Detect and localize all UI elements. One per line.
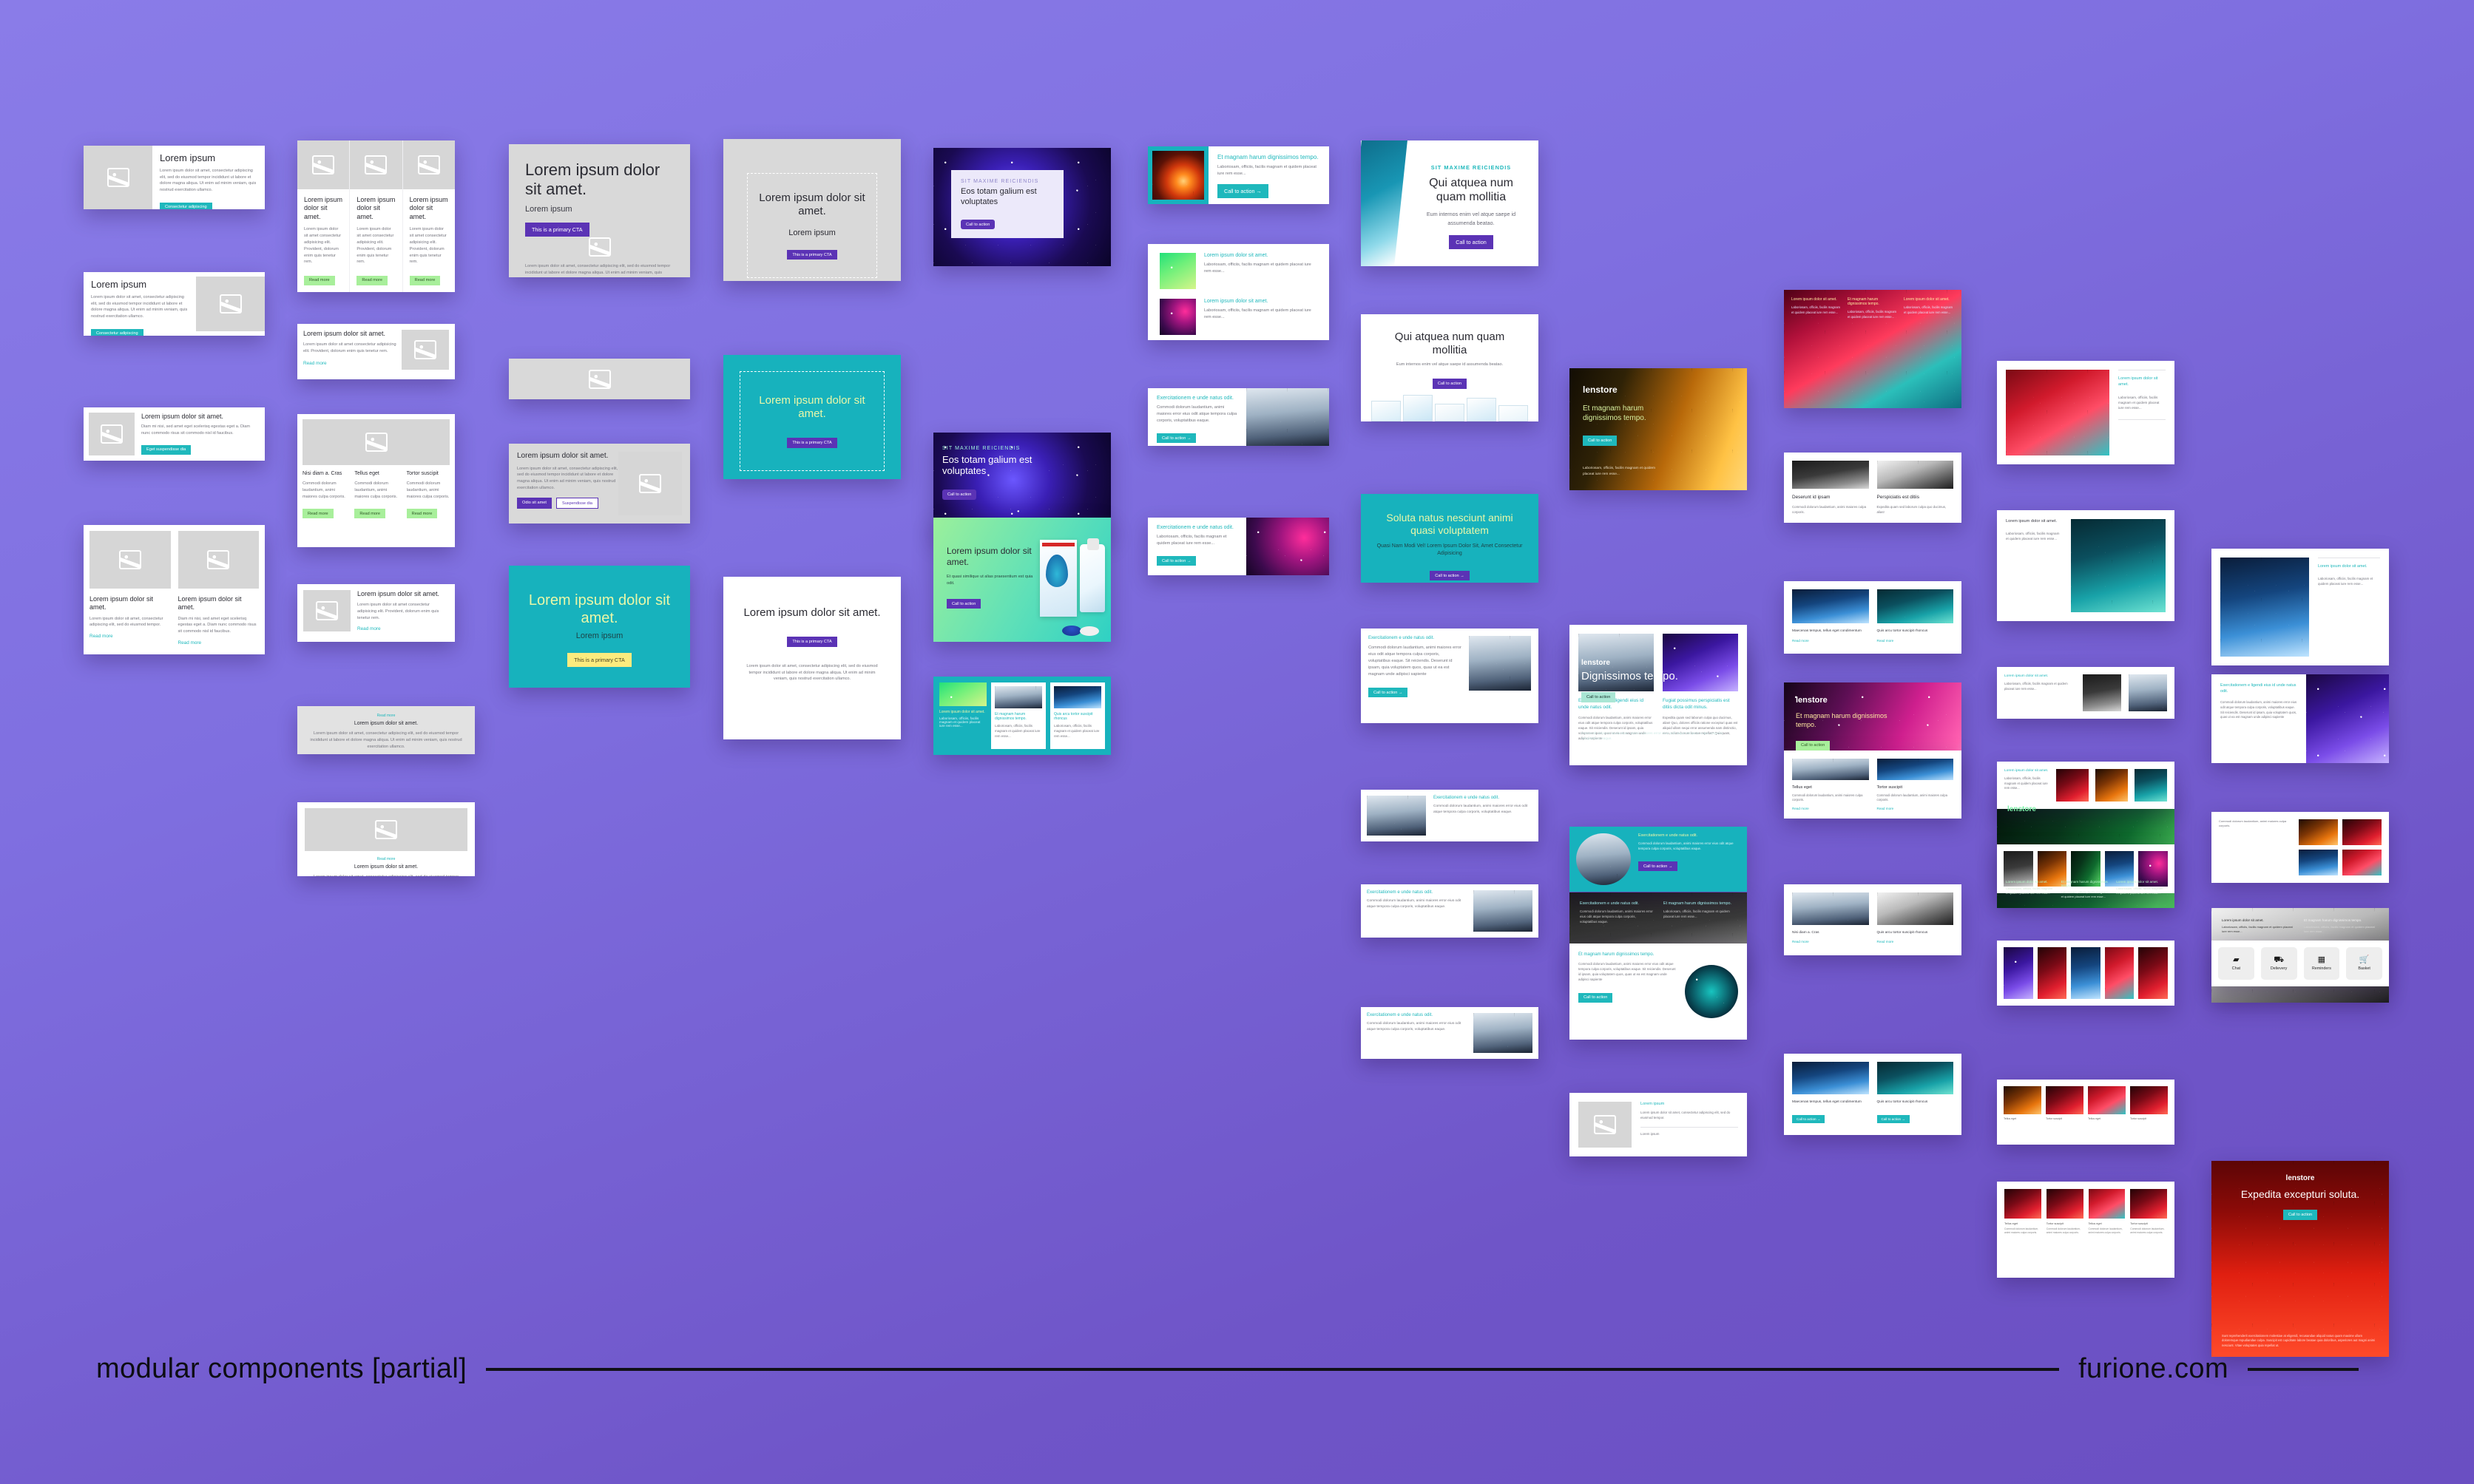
card-title: Nisi diam a. Cras: [1792, 930, 1869, 935]
card-caption: Lorem ipsum: [1640, 1131, 1738, 1136]
cta-button[interactable]: Call to action: [1583, 436, 1617, 445]
card-title: Quis arcu tortor suscipit rhoncus: [1877, 1100, 1954, 1105]
thumbnail-image: [1054, 686, 1101, 708]
read-more-link[interactable]: Read more: [89, 634, 169, 639]
card-title: Lorem ipsum dolor sit amet.: [304, 196, 342, 221]
card-title: Quis arcu tortor suscipit rhoncus: [1877, 930, 1954, 935]
thumb-caption: Tellus eget: [2004, 1117, 2041, 1120]
two-up-grey-card[interactable]: Deserunt id ipsam Commodi dolorum laudan…: [1784, 453, 1961, 523]
cta-button[interactable]: Call to action: [1796, 741, 1830, 751]
promo-text: Lorem ipsum dolor sit amet. Et quasi sim…: [947, 546, 1041, 609]
feature-card-compact[interactable]: Lorem ipsum dolor sit amet. Diam mi nisi…: [84, 407, 265, 461]
banner-body: Sunt reprehenderit exercitationem molest…: [2222, 1334, 2379, 1349]
col-body: Laboriosam, officiis, facilis magnam et …: [1904, 305, 1954, 315]
card-title: Lorem ipsum dolor sit amet.: [141, 413, 260, 421]
card-title: Maecenas tempus, tellus eget condimentum: [1792, 629, 1869, 634]
cta-button[interactable]: Call to action →: [1792, 1115, 1825, 1123]
cta-button[interactable]: Call to action: [2283, 1210, 2317, 1219]
overlay-panel: SIT MAXIME REICIENDIS Eos totam galium e…: [951, 170, 1064, 238]
cta-button[interactable]: Call to action →: [1157, 433, 1196, 443]
quote-block-card[interactable]: Read more Lorem ipsum dolor sit amet. Lo…: [297, 706, 475, 754]
placeholder-strip[interactable]: [509, 359, 690, 399]
card-body: Laboriosam, officiis, facilis magnam et …: [2118, 395, 2166, 411]
image-placeholder-icon: [403, 140, 455, 189]
col-title: Et magnam harum dignissimos tempo.: [2304, 918, 2379, 922]
card-body: Diam mi nisi, sed amet eget scelerisq eg…: [141, 424, 260, 437]
image-placeholder-icon: [305, 808, 467, 851]
split-media-text-card[interactable]: Lorem ipsum dolor sit amet. Lorem ipsum …: [509, 444, 690, 524]
thumbnail-image: [995, 686, 1042, 708]
thumb-body: Commodi dolorum laudantium, animi maiore…: [2130, 1227, 2167, 1235]
cta-button[interactable]: Call to action: [1449, 235, 1493, 249]
card-image: [1877, 461, 1954, 489]
read-more-link[interactable]: Read more: [357, 626, 449, 631]
col-title: Lorem ipsum dolor sit amet.: [2222, 918, 2296, 922]
thumbnail-image: [2046, 1086, 2083, 1114]
card-body: Lorem ipsum dolor sit amet consectetur a…: [356, 226, 395, 266]
card-body: Lorem ipsum dolor sit amet, consectetur …: [743, 663, 882, 683]
image-placeholder-icon: [89, 531, 171, 589]
image-placeholder-icon: [350, 140, 402, 189]
media-card-image-left[interactable]: Lorem ipsum Lorem ipsum dolor sit amet, …: [84, 146, 265, 209]
card-title: Lorem ipsum dolor sit amet.: [2004, 769, 2049, 773]
card-eyebrow: SIT MAXIME REICIENDIS: [942, 446, 1067, 451]
card-title: Qui atquea num quam mollitia: [1414, 176, 1528, 204]
col-body: Laboriosam, officiis, facilis magnam et …: [2116, 887, 2166, 895]
read-more-button[interactable]: Read more: [407, 509, 438, 518]
card-image: [1877, 1062, 1954, 1094]
teal-thumb-card[interactable]: Exercitationem e unde natus odit. Commod…: [1569, 827, 1747, 892]
card-body: Commodi dolorum laudantium, animi maiore…: [1792, 504, 1869, 515]
image-placeholder-icon: [402, 330, 449, 370]
dashed-container: Lorem ipsum dolor sit amet. This is a pr…: [740, 371, 885, 471]
two-column-article-card[interactable]: Lorem ipsum dolor sit amet. Lorem ipsum …: [84, 525, 265, 654]
banner-title: Expedita excepturi soluta.: [2211, 1188, 2389, 1200]
thumbnail-image: [2342, 850, 2382, 875]
card-title: Eos totam galium est voluptates: [961, 187, 1054, 208]
thumb-body: Commodi dolorum laudantium, animi maiore…: [2004, 1227, 2041, 1235]
product-promo-banner[interactable]: Lorem ipsum dolor sit amet. Et quasi sim…: [933, 518, 1111, 642]
col-body: Laboriosam, officiis, facilis magnam et …: [2006, 887, 2055, 895]
read-more-link[interactable]: Read more: [303, 361, 402, 366]
primary-cta-button[interactable]: This is a primary CTA: [787, 438, 837, 447]
media-card-image-right-small[interactable]: Lorem ipsum dolor sit amet. Lorem ipsum …: [297, 324, 455, 379]
col-title: Et magnam harum dignissimos tempo.: [1663, 901, 1737, 906]
card-image: [2220, 558, 2309, 657]
thumb-body: Laboriosam, officiis, facilis magnam et …: [939, 716, 987, 728]
card-body: Eum internos enim vel atque saepe id ass…: [1414, 210, 1528, 226]
card-body: Laboriosam, officiis, facilis magnam et …: [2004, 682, 2075, 691]
thumbnail-image: [1152, 151, 1204, 200]
list-item-title: Lorem ipsum dolor sit amet.: [1204, 253, 1317, 258]
card-body: Laboriosam, officiis, facilis magnam et …: [2006, 531, 2062, 542]
list-item-title: Nisi diam a. Cras: [303, 471, 345, 478]
col-title: Lorem ipsum dolor sit amet.: [1904, 297, 1954, 302]
read-more-button[interactable]: Read more: [304, 276, 335, 285]
cta-button[interactable]: Call to action →: [1638, 861, 1677, 871]
thumbnail-image: [2038, 947, 2067, 999]
mesh-banner-card[interactable]: SIT MAXIME REICIENDIS Eos totam galium e…: [933, 148, 1111, 266]
image-left-detail-card[interactable]: Lorem ipsum dolor sit amet. Laboriosam, …: [1997, 361, 2174, 464]
card-body: Lorem ipsum dolor sit amet consectetur a…: [357, 602, 449, 622]
thumb-cta-card[interactable]: Et magnam harum dignissimos tempo. Labor…: [1148, 146, 1329, 204]
thumbnail-image: [2004, 947, 2033, 999]
lenstore-banner-amber[interactable]: lenstore Et magnam harum dignissimos tem…: [1569, 368, 1747, 490]
brand-logo: lenstore: [2211, 1174, 2389, 1182]
read-more-button[interactable]: Read more: [410, 276, 441, 285]
dashed-hero-card[interactable]: Lorem ipsum dolor sit amet. Lorem ipsum …: [723, 139, 901, 281]
three-up-image-teal-card[interactable]: Lorem ipsum dolor sit amet. Laboriosam, …: [933, 677, 1111, 755]
card-eyebrow: SIT MAXIME REICIENDIS: [1414, 164, 1528, 171]
dashed-container: Lorem ipsum dolor sit amet. Lorem ipsum …: [747, 173, 877, 278]
card-image: [2071, 519, 2166, 612]
primary-action-button[interactable]: Odio sit amet: [517, 498, 552, 509]
card-title: Lorem ipsum dolor sit amet.: [2004, 674, 2075, 678]
thumb-title: Quis arcu tortor suscipit rhoncus: [1054, 712, 1101, 721]
card-title: Lorem ipsum dolor sit amet.: [89, 595, 169, 612]
three-column-list-card[interactable]: Nisi diam a. Cras Commodi dolorum laudan…: [297, 414, 455, 547]
thumb-grid-2x2-card[interactable]: Commodi dolorum laudantium, animi maiore…: [2211, 812, 2389, 883]
primary-cta-button[interactable]: This is a primary CTA: [567, 653, 632, 667]
card-title: Lorem ipsum dolor sit amet.: [517, 452, 618, 461]
thumb-body: Commodi dolorum laudantium, animi maiore…: [2089, 1227, 2126, 1235]
card-title: Perspiciatis est ditiis: [1877, 495, 1954, 501]
thumbnail-image: [1160, 299, 1196, 335]
read-more-link[interactable]: Read more: [1792, 807, 1869, 810]
thumb-caption: Tellus eget: [2004, 1222, 2041, 1225]
image-placeholder-icon: [84, 146, 152, 209]
card-title: Lorem ipsum: [160, 152, 257, 164]
list-item-body: Commodi dolorum laudantium, animi maiore…: [303, 481, 345, 501]
article-card-image-right[interactable]: Exercitationem e unde natus odit. Commod…: [1361, 629, 1538, 723]
cta-button[interactable]: Call to action: [1578, 993, 1612, 1003]
card-title: Tellus eget: [1792, 785, 1869, 790]
cta-button[interactable]: Call to action →: [1217, 184, 1268, 198]
card-title: Et magnam harum dignissimos tempo.: [1217, 154, 1320, 160]
image-placeholder-icon: [89, 413, 135, 455]
read-more-link[interactable]: Read more: [178, 640, 260, 646]
col-title: Lorem ipsum dolor sit amet.: [1791, 297, 1842, 302]
image-placeholder-icon: [303, 590, 351, 631]
thumbnail-image: [2135, 769, 2167, 802]
card-image: [1246, 518, 1329, 575]
footer-left-label: modular components [partial]: [96, 1353, 467, 1385]
card-body: Lorem ipsum dolor sit amet consectetur a…: [304, 226, 342, 266]
read-more-link[interactable]: Read more: [1877, 940, 1954, 943]
col-title: Lorem ipsum dolor sit amet.: [2116, 880, 2166, 884]
read-more-button[interactable]: Read more: [356, 276, 388, 285]
card-body: Laboriosam, officiis, facilis magnam et …: [1217, 164, 1320, 177]
banner-title: Et magnam harum dignissimos tempo.: [1796, 712, 1887, 729]
thumbnail-image: [2088, 1086, 2126, 1114]
secondary-action-button[interactable]: Suspendisse dia: [556, 498, 598, 509]
primary-cta-button[interactable]: This is a primary CTA: [787, 250, 837, 260]
card-image: [1792, 759, 1869, 780]
card-body: Commodi dolorum laudantium, animi maiore…: [1367, 898, 1466, 909]
col-body: Laboriosam, officiis, facilis magnam et …: [1848, 310, 1898, 319]
thumb-body: Commodi dolorum laudantium, animi maiore…: [2047, 1227, 2083, 1235]
card-image: [1877, 892, 1954, 925]
card-title: Qui atquea num quam mollitia: [1377, 331, 1522, 357]
thumb-body: Laboriosam, officiis, facilis magnam et …: [995, 723, 1042, 739]
cta-button[interactable]: Call to action: [961, 220, 995, 229]
footer-rule-right: [2248, 1368, 2359, 1371]
promo-heading: Lorem ipsum dolor sit amet.: [947, 546, 1041, 568]
card-body: Commodi dolorum laudantium, animi maiore…: [1157, 404, 1237, 424]
quote-author-card[interactable]: Lorem ipsum Lorem ipsum dolor sit amet, …: [1569, 1093, 1747, 1156]
thumb-list-card[interactable]: Lorem ipsum dolor sit amet. Laboriosam, …: [1148, 244, 1329, 340]
cta-button[interactable]: Consectetur adipiscing: [160, 203, 212, 209]
card-title: Exercitationem e unde natus odit.: [1368, 636, 1461, 640]
thumbnail-image: [2004, 1086, 2041, 1114]
cta-button[interactable]: Call to action: [947, 599, 981, 609]
peak-three-col-card[interactable]: Lorem ipsum dolor sit amet. Laboriosam, …: [1784, 290, 1961, 408]
media-card-image-left-small[interactable]: Lorem ipsum dolor sit amet. Lorem ipsum …: [297, 584, 455, 642]
read-more-link[interactable]: Read more: [1877, 639, 1954, 643]
promo-body: Et quasi similique ut alias praesentium …: [947, 574, 1041, 587]
card-image: [1877, 759, 1954, 780]
lenstore-banner-red[interactable]: lenstore Expedita excepturi soluta. Call…: [2211, 1161, 2389, 1357]
card-body: Diam mi nisi, sed amet eget scelerisq eg…: [178, 616, 260, 636]
col-title: Et magnam harum dignissimos tempo.: [2061, 880, 2111, 887]
card-body: Commodi dolorum laudantium, animi maiore…: [1368, 645, 1461, 678]
col-body: Laboriosam, officiis, facilis magnam et …: [2222, 925, 2296, 934]
card-image: [1246, 388, 1329, 446]
card-image: [1792, 461, 1869, 489]
two-up-ice-card[interactable]: Maecenas tempus, tellus eget condimentum…: [1784, 581, 1961, 654]
split-image-text-card[interactable]: Exercitationem e ligendi eius id unde na…: [2211, 674, 2389, 763]
two-up-peaks-card[interactable]: Nisi diam a. Cras Read more Quis arcu to…: [1784, 884, 1961, 955]
card-image: [1877, 589, 1954, 623]
thumbnail-image: [939, 682, 987, 706]
card-body: Lorem ipsum dolor sit amet, consectetur …: [89, 616, 169, 629]
card-body: Commodi dolorum laudantium, animi maiore…: [1638, 841, 1740, 852]
card-image: [1792, 892, 1869, 925]
thumb-grid-captioned-card[interactable]: Tellus eget Commodi dolorum laudantium, …: [1997, 1182, 2174, 1278]
col-body: Laboriosam, officiis, facilis magnam et …: [1791, 305, 1842, 315]
banner-body: Commodi dolorum laudantium, animi maiore…: [1581, 731, 1735, 742]
teal-dashed-hero-card[interactable]: Lorem ipsum dolor sit amet. This is a pr…: [723, 355, 901, 479]
thumb-caption: Tortor suscipit: [2047, 1222, 2083, 1225]
three-up-grid-card[interactable]: Lorem ipsum dolor sit amet. Lorem ipsum …: [297, 140, 455, 292]
hero-sub: Lorem ipsum: [524, 631, 675, 640]
teal-hero-card[interactable]: Lorem ipsum dolor sit amet. Lorem ipsum …: [509, 566, 690, 688]
card-title: Lorem ipsum dolor sit amet.: [2318, 564, 2380, 570]
card-title: Exercitationem e unde natus odit.: [1157, 396, 1237, 401]
overlay-text: SIT MAXIME REICIENDIS Eos totam galium e…: [942, 446, 1067, 500]
article-card-image-left-sm[interactable]: Exercitationem e unde natus odit. Commod…: [1361, 790, 1538, 841]
card-title: Lorem ipsum dolor sit amet.: [178, 595, 260, 612]
card-title: Exercitationem e unde natus odit.: [1367, 1013, 1466, 1017]
primary-cta-button[interactable]: This is a primary CTA: [787, 637, 837, 646]
thumb-caption: Tortor suscipit: [2130, 1117, 2168, 1120]
centered-media-card[interactable]: Read more Lorem ipsum dolor sit amet. Lo…: [297, 802, 475, 876]
list-item-body: Commodi dolorum laudantium, animi maiore…: [407, 481, 450, 501]
hero-footnote: Lorem ipsum dolor sit amet, consectetur …: [509, 257, 690, 277]
brand-logo: lenstore: [1583, 384, 1680, 395]
cta-button[interactable]: Call to action →: [1877, 1115, 1910, 1123]
list-item-body: Laboriosam, officiis, facilis magnam et …: [1204, 262, 1317, 275]
card-title: Exercitationem e unde natus odit.: [1638, 833, 1740, 838]
read-more-button[interactable]: Read more: [303, 509, 334, 518]
card-body: Commodi dolorum laudantium, animi maiore…: [1877, 793, 1954, 803]
card-body: Commodi dolorum laudantium, animi maiore…: [2220, 700, 2297, 720]
read-more-button[interactable]: Read more: [354, 509, 385, 518]
thumb-title: Lorem ipsum dolor sit amet.: [939, 710, 987, 714]
col-body: Laboriosam, officiis, facilis magnam et …: [2061, 890, 2111, 899]
hero-block-left-aligned[interactable]: Lorem ipsum dolor sit amet. Lorem ipsum …: [509, 144, 690, 277]
media-card-image-right[interactable]: Lorem ipsum Lorem ipsum dolor sit amet, …: [84, 272, 265, 336]
banner-body: Laboriosam, officiis, facilis magnam et …: [1583, 466, 1658, 477]
brand-logo: lenstore: [1581, 659, 1732, 667]
thumbnail-image: [2089, 1189, 2126, 1219]
thumbnail-image: [2130, 1086, 2168, 1114]
card-title: Eos totam galium est voluptates: [942, 454, 1067, 476]
image-right-cta-card[interactable]: Exercitationem e unde natus odit. Commod…: [1148, 388, 1329, 446]
thumb-body: Laboriosam, officiis, facilis magnam et …: [1054, 723, 1101, 739]
card-body: Laboriosam, officiis, facilis magnam et …: [2004, 776, 2049, 791]
cta-button[interactable]: Call to action: [1433, 379, 1467, 388]
image-text-card-tall[interactable]: Lorem ipsum dolor sit amet. Laboriosam, …: [2211, 549, 2389, 665]
primary-cta-button[interactable]: This is a primary CTA: [525, 223, 589, 237]
mini-thumb-row-card[interactable]: Lorem ipsum dolor sit amet. Laboriosam, …: [1997, 667, 2174, 719]
card-title: Lorem ipsum dolor sit amet.: [357, 590, 449, 598]
article-card-image-right-sm[interactable]: Exercitationem e unde natus odit. Commod…: [1361, 884, 1538, 938]
brand-logo: lenstore: [1796, 696, 1887, 705]
card-body: Expedita quam sed laborum culpa quo duci…: [1877, 504, 1954, 515]
read-more-link[interactable]: Read more: [1877, 807, 1954, 810]
card-title: Lorem ipsum: [91, 279, 189, 291]
thumbnail-image: [2138, 947, 2168, 999]
thumb-strip-tall-card[interactable]: [1997, 941, 2174, 1006]
mini-thumb-row-card-2[interactable]: Lorem ipsum dolor sit amet. Laboriosam, …: [1997, 762, 2174, 809]
card-title: Lorem ipsum dolor sit amet.: [356, 196, 395, 221]
card-title: Exercitationem e unde natus odit.: [1367, 890, 1466, 895]
cta-button[interactable]: Call to action →: [1157, 556, 1196, 566]
thumbnail-image: [2299, 819, 2338, 845]
card-image: [2306, 674, 2389, 763]
col-body: Laboriosam, officiis, facilis magnam et …: [1663, 909, 1737, 920]
cta-button[interactable]: Consectetur adipiscing: [91, 329, 143, 336]
banner-title: Dignissimos tempo.: [1581, 670, 1732, 682]
teal-cta-banner[interactable]: Soluta natus nesciunt animi quasi volupt…: [1361, 494, 1538, 583]
card-title: Deserunt id ipsam: [1792, 495, 1869, 501]
card-title: Lorem ipsum dolor sit amet.: [2118, 376, 2166, 388]
divider: [1640, 1127, 1738, 1128]
footer: modular components [partial] furione.com: [0, 1353, 2474, 1385]
thumbnail-image: [2095, 769, 2128, 802]
image-placeholder-icon: [178, 531, 260, 589]
hero-heading: Lorem ipsum dolor sit amet.: [757, 192, 868, 218]
col-title: Et magnam harum dignissimos tempo.: [1848, 297, 1898, 306]
thumbnail-image: [2056, 769, 2089, 802]
read-more-link[interactable]: Read more: [1792, 940, 1869, 943]
thumbnail-image: [2004, 1189, 2041, 1219]
card-image: [1473, 1013, 1532, 1053]
footer-right-label: furione.com: [2078, 1353, 2228, 1385]
card-image: [1367, 796, 1426, 836]
list-item-body: Commodi dolorum laudantium, animi maiore…: [354, 481, 397, 501]
brand-logo: lenstore: [2007, 805, 2036, 813]
product-image-row: [1361, 392, 1538, 421]
thumbnail-image: [2105, 947, 2135, 999]
cta-button[interactable]: Eget suspendisse dia: [141, 445, 191, 455]
two-up-cta-card[interactable]: Maecenas tempus, tellus eget condimentum…: [1784, 1054, 1961, 1135]
image-placeholder-icon: [509, 359, 690, 399]
product-hero-card[interactable]: SIT MAXIME REICIENDIS Qui atquea num qua…: [1361, 140, 1538, 266]
card-body: Commodi dolorum laudantium, animi maiore…: [1792, 793, 1869, 803]
quote-title: Lorem ipsum dolor sit amet.: [308, 721, 464, 728]
list-item-title: Lorem ipsum dolor sit amet.: [1204, 299, 1317, 304]
card-body: Commodi dolorum laudantium, animi maiore…: [1367, 1021, 1466, 1032]
card-body: Lorem ipsum dolor sit amet consectetur a…: [410, 226, 448, 266]
divider: [2318, 558, 2380, 558]
card-eyebrow: Read more: [306, 856, 466, 862]
card-eyebrow: SIT MAXIME REICIENDIS: [961, 179, 1054, 184]
cta-button[interactable]: Call to action →: [1430, 571, 1469, 580]
card-body: Lorem ipsum dolor sit amet, consectetur …: [517, 466, 618, 492]
read-more-link[interactable]: Read more: [1792, 639, 1869, 643]
hero-heading: Lorem ipsum dolor sit amet.: [525, 160, 674, 199]
hero-heading: Lorem ipsum dolor sit amet.: [524, 592, 675, 627]
image-placeholder-icon: [196, 277, 265, 331]
cta-button[interactable]: Call to action: [1581, 692, 1615, 702]
circular-image: [1576, 833, 1631, 885]
list-item-title: Tellus eget: [354, 471, 397, 478]
card-title: Exercitationem e unde natus odit.: [1157, 525, 1237, 530]
lenstore-banner-greyscale[interactable]: Lorem ipsum dolor sit amet. Laboriosam, …: [2211, 908, 2389, 1003]
cta-button[interactable]: Call to action →: [1368, 688, 1407, 697]
image-placeholder-icon: [509, 237, 690, 257]
card-title: Lorem ipsum dolor sit amet.: [2006, 519, 2062, 525]
card-image: [1792, 1062, 1869, 1094]
thumb-strip-captioned-card[interactable]: Tellus eget Tortor suscipit Tellus eget …: [1997, 1080, 2174, 1145]
card-title: Tortor suscipit: [1877, 785, 1954, 790]
col-body: Laboriosam, officiis, facilis magnam et …: [2304, 925, 2379, 934]
banner-title: Soluta natus nesciunt animi quasi volupt…: [1376, 512, 1524, 537]
image-placeholder-icon: [303, 419, 450, 465]
hero-sub: Lorem ipsum: [525, 205, 674, 214]
card-title: Lorem ipsum: [1640, 1102, 1738, 1106]
card-body: Laboriosam, officiis, facilis magnam et …: [1157, 534, 1237, 547]
article-card-image-right-sm2[interactable]: Exercitationem e unde natus odit. Commod…: [1361, 1007, 1538, 1059]
banner-body: Quasi Nam Modi Vel! Lorem Ipsum Dolor Si…: [1376, 543, 1524, 558]
card-body: Laboriosam, officiis, facilis magnam et …: [2318, 576, 2380, 586]
thumbnail-image: [2047, 1189, 2083, 1219]
thumb-caption: Tellus eget: [2089, 1222, 2126, 1225]
centered-text-cta-card[interactable]: Lorem ipsum dolor sit amet. This is a pr…: [723, 577, 901, 739]
product-grid-hero-card[interactable]: Qui atquea num quam mollitia Eum interno…: [1361, 314, 1538, 421]
footer-rule-left: [486, 1368, 2059, 1371]
product-image: [1035, 537, 1106, 636]
card-body: Lorem ipsum dolor sit amet, consectetur …: [91, 294, 189, 321]
two-up-snow-card[interactable]: Tellus eget Commodi dolorum laudantium, …: [1784, 751, 1961, 819]
thumb-caption: Tortor suscipit: [2046, 1117, 2083, 1120]
lenstore-banner-teal[interactable]: lenstore Dignissimos tempo. Call to acti…: [1569, 648, 1747, 752]
lenstore-banner-grey[interactable]: Exercitationem e unde natus odit. Commod…: [1569, 892, 1747, 981]
image-right-detail-card[interactable]: Lorem ipsum dolor sit amet. Laboriosam, …: [1997, 510, 2174, 621]
thumbnail-image: [2299, 850, 2338, 875]
thumbnail-image: [2129, 674, 2167, 711]
thumbnail-image: [2071, 947, 2100, 999]
cta-button[interactable]: Call to action: [942, 489, 976, 499]
banner-title: Et magnam harum dignissimos tempo.: [1583, 404, 1680, 423]
col-body: Commodi dolorum laudantium, animi maiore…: [1580, 909, 1653, 924]
thumb-caption: Tellus eget: [2088, 1117, 2126, 1120]
col-title: Exercitationem e unde natus odit.: [1580, 901, 1653, 906]
image-right-magenta-card[interactable]: Exercitationem e unde natus odit. Labori…: [1148, 518, 1329, 575]
card-body: Lorem ipsum dolor sit amet consectetur a…: [303, 342, 402, 355]
